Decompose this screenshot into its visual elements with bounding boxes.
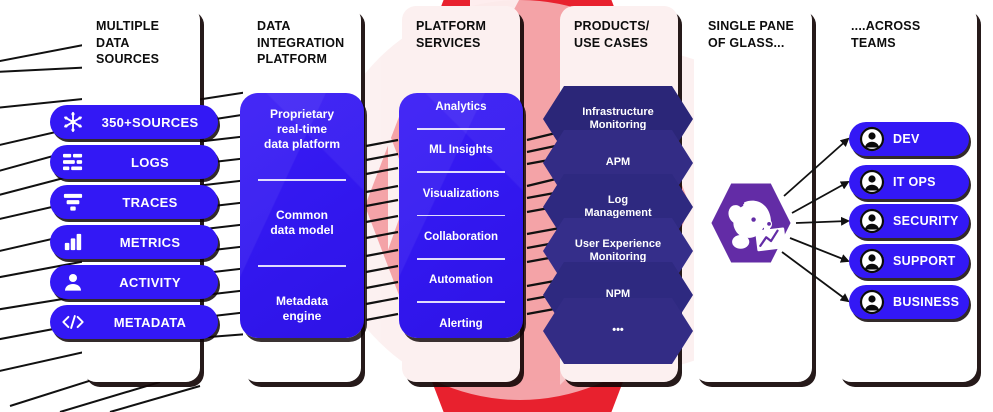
column-title-platform: DATA INTEGRATION PLATFORM bbox=[257, 18, 353, 68]
team-pill-label: SUPPORT bbox=[889, 254, 969, 268]
source-pill-activity[interactable]: ACTIVITY bbox=[50, 265, 218, 299]
source-pill-label: ACTIVITY bbox=[90, 275, 218, 290]
connector-lines-platform-services bbox=[366, 140, 398, 320]
hex-label: User Experience Monitoring bbox=[563, 238, 673, 265]
services-panel: Analytics ML Insights Visualizations Col… bbox=[399, 93, 523, 338]
team-pill-it-ops[interactable]: IT OPS bbox=[849, 165, 969, 199]
service-item-analytics[interactable]: Analytics bbox=[399, 100, 523, 114]
architecture-diagram: MULTIPLE DATA SOURCES 350+SOURCES bbox=[0, 0, 993, 412]
column-title-services: PLATFORM SERVICES bbox=[416, 18, 512, 51]
datadog-dog-icon[interactable] bbox=[708, 180, 794, 266]
panel-divider bbox=[417, 301, 505, 303]
source-pill-metrics[interactable]: METRICS bbox=[50, 225, 218, 259]
team-pill-security[interactable]: SECURITY bbox=[849, 204, 969, 238]
platform-item-common-data-model[interactable]: Common data model bbox=[240, 208, 364, 238]
source-pill-label: LOGS bbox=[90, 155, 218, 170]
logs-icon bbox=[56, 145, 90, 179]
source-pill-metadata[interactable]: METADATA bbox=[50, 305, 218, 339]
column-title-products: PRODUCTS/ USE CASES bbox=[574, 18, 670, 51]
service-item-alerting[interactable]: Alerting bbox=[399, 317, 523, 331]
person-avatar-icon bbox=[855, 122, 889, 156]
panel-divider bbox=[417, 215, 505, 217]
hex-label: ••• bbox=[600, 324, 636, 337]
team-pill-business[interactable]: BUSINESS bbox=[849, 285, 969, 319]
team-pill-label: IT OPS bbox=[889, 175, 969, 189]
source-pill-label: METADATA bbox=[90, 315, 218, 330]
service-item-ml-insights[interactable]: ML Insights bbox=[399, 143, 523, 157]
platform-services-panel: Proprietary real-time data platform Comm… bbox=[240, 93, 364, 338]
panel-divider bbox=[258, 265, 346, 267]
panel-divider bbox=[258, 179, 346, 181]
team-pill-support[interactable]: SUPPORT bbox=[849, 244, 969, 278]
team-pill-label: BUSINESS bbox=[889, 295, 969, 309]
column-title-glass: SINGLE PANE OF GLASS... bbox=[708, 18, 804, 51]
person-avatar-icon bbox=[855, 204, 889, 238]
traces-icon bbox=[56, 185, 90, 219]
source-pill-label: 350+SOURCES bbox=[90, 115, 218, 130]
bar-chart-icon bbox=[56, 225, 90, 259]
person-avatar-icon bbox=[855, 244, 889, 278]
service-item-automation[interactable]: Automation bbox=[399, 273, 523, 287]
products-hexagon-stack: Infrastructure Monitoring APM Log Manage… bbox=[543, 86, 693, 346]
team-pill-label: SECURITY bbox=[889, 214, 969, 228]
panel-divider bbox=[417, 258, 505, 260]
source-pill-label: METRICS bbox=[90, 235, 218, 250]
hex-more[interactable]: ••• bbox=[543, 298, 693, 364]
user-icon bbox=[56, 265, 90, 299]
column-title-sources: MULTIPLE DATA SOURCES bbox=[96, 18, 192, 68]
source-pill-traces[interactable]: TRACES bbox=[50, 185, 218, 219]
column-title-teams: ....ACROSS TEAMS bbox=[851, 18, 969, 51]
source-pill-logs[interactable]: LOGS bbox=[50, 145, 218, 179]
platform-item-proprietary[interactable]: Proprietary real-time data platform bbox=[240, 107, 364, 152]
code-icon bbox=[56, 305, 90, 339]
hex-label: APM bbox=[594, 156, 642, 169]
person-avatar-icon bbox=[855, 165, 889, 199]
team-pill-dev[interactable]: DEV bbox=[849, 122, 969, 156]
snowflake-icon bbox=[56, 105, 90, 139]
hex-label: Infrastructure Monitoring bbox=[570, 106, 666, 133]
panel-divider bbox=[417, 171, 505, 173]
hex-label: Log Management bbox=[572, 194, 663, 221]
service-item-collaboration[interactable]: Collaboration bbox=[399, 230, 523, 244]
team-pill-label: DEV bbox=[889, 132, 969, 146]
person-avatar-icon bbox=[855, 285, 889, 319]
source-pill-350-sources[interactable]: 350+SOURCES bbox=[50, 105, 218, 139]
platform-item-metadata-engine[interactable]: Metadata engine bbox=[240, 294, 364, 324]
service-item-visualizations[interactable]: Visualizations bbox=[399, 187, 523, 201]
panel-divider bbox=[417, 128, 505, 130]
source-pill-label: TRACES bbox=[90, 195, 218, 210]
